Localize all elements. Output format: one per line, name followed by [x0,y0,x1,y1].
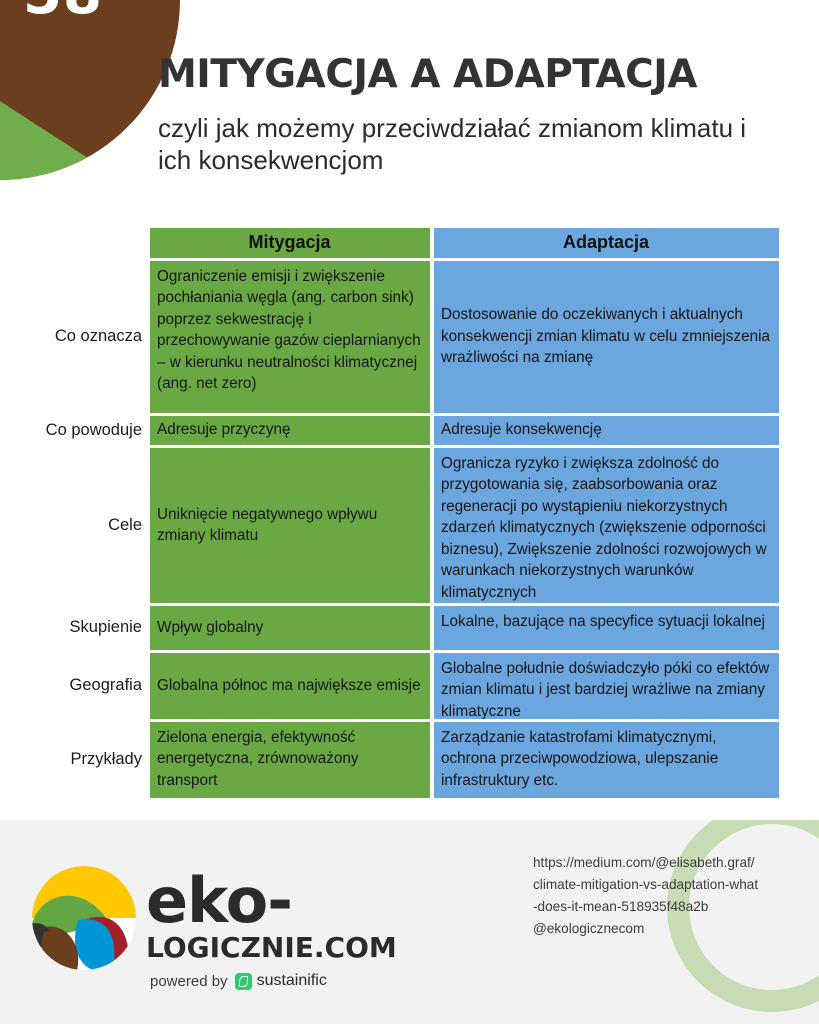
table-header-row: Mitygacja Adaptacja [0,228,819,258]
column-header-adaptacja: Adaptacja [434,228,779,258]
table-row: Przykłady Zielona energia, efektywność e… [0,722,819,798]
row-label-co-powoduje: Co powoduje [0,416,150,445]
row-label-skupienie: Skupienie [0,606,150,650]
cell-mitygacja-geografia: Globalna północ ma największe emisje [150,653,430,719]
page-subtitle: czyli jak możemy przeciwdziałać zmianom … [158,112,758,176]
table-row: Skupienie Wpływ globalny Lokalne, bazują… [0,606,819,650]
cell-mitygacja-skupienie: Wpływ globalny [150,606,430,650]
cell-adaptacja-geografia: Globalne południe doświadczyło póki co e… [434,653,779,719]
row-label-geografia: Geografia [0,653,150,719]
column-header-mitygacja: Mitygacja [150,228,430,258]
table-row: Geografia Globalna północ ma największe … [0,653,819,719]
cell-adaptacja-co-powoduje: Adresuje konsekwencję [434,416,779,445]
row-label-przyklady: Przykłady [0,722,150,798]
cell-adaptacja-skupienie: Lokalne, bazujące na specyfice sytuacji … [434,606,779,650]
table-row: Co oznacza Ograniczenie emisji i zwiększ… [0,261,819,413]
row-label-co-oznacza: Co oznacza [0,261,150,413]
issue-number-badge: 58 [0,0,180,180]
source-url-line-3: -does-it-mean-518935f48a2b [533,896,803,918]
ekologicznie-emblem-icon [28,862,140,974]
source-url-line-1: https://medium.com/@elisabeth.graf/ [533,852,803,874]
issue-number-text: 58 [18,0,108,30]
row-label-cele: Cele [0,448,150,603]
cell-mitygacja-co-oznacza: Ograniczenie emisji i zwiększenie pochła… [150,261,430,413]
sustainific-leaf-icon [235,973,252,990]
page-title: MITYGACJA A ADAPTACJA [158,52,798,98]
cell-adaptacja-przyklady: Zarządzanie katastrofami klimatycznymi, … [434,722,779,798]
social-handle: @ekologicznecom [533,918,803,940]
brand-name-eko: eko- [146,874,397,928]
source-url-line-2: climate-mitigation-vs-adaptation-what [533,874,803,896]
footer: eko- LOGICZNIE.COM powered by sustainifi… [0,820,819,1024]
cell-mitygacja-co-powoduje: Adresuje przyczynę [150,416,430,445]
powered-by-block: powered by sustainific [150,972,327,990]
table-row: Co powoduje Adresuje przyczynę Adresuje … [0,416,819,445]
cell-adaptacja-cele: Ogranicza ryzyko i zwiększa zdolność do … [434,448,779,603]
brand-domain: LOGICZNIE.COM [146,932,397,964]
source-url-block[interactable]: https://medium.com/@elisabeth.graf/ clim… [533,852,803,940]
comparison-table: Mitygacja Adaptacja Co oznacza Ogranicze… [0,228,819,801]
cell-adaptacja-co-oznacza: Dostosowanie do oczekiwanych i aktualnyc… [434,261,779,413]
sustainific-label: sustainific [257,972,327,990]
table-row: Cele Uniknięcie negatywnego wpływu zmian… [0,448,819,603]
powered-by-label: powered by [150,973,228,990]
table-corner-cell [0,228,150,258]
cell-mitygacja-przyklady: Zielona energia, efektywność energetyczn… [150,722,430,798]
brand-wordmark: eko- LOGICZNIE.COM [146,862,397,964]
cell-mitygacja-cele: Uniknięcie negatywnego wpływu zmiany kli… [150,448,430,603]
header: MITYGACJA A ADAPTACJA czyli jak możemy p… [158,52,798,176]
brand-logo[interactable]: eko- LOGICZNIE.COM [28,862,397,974]
